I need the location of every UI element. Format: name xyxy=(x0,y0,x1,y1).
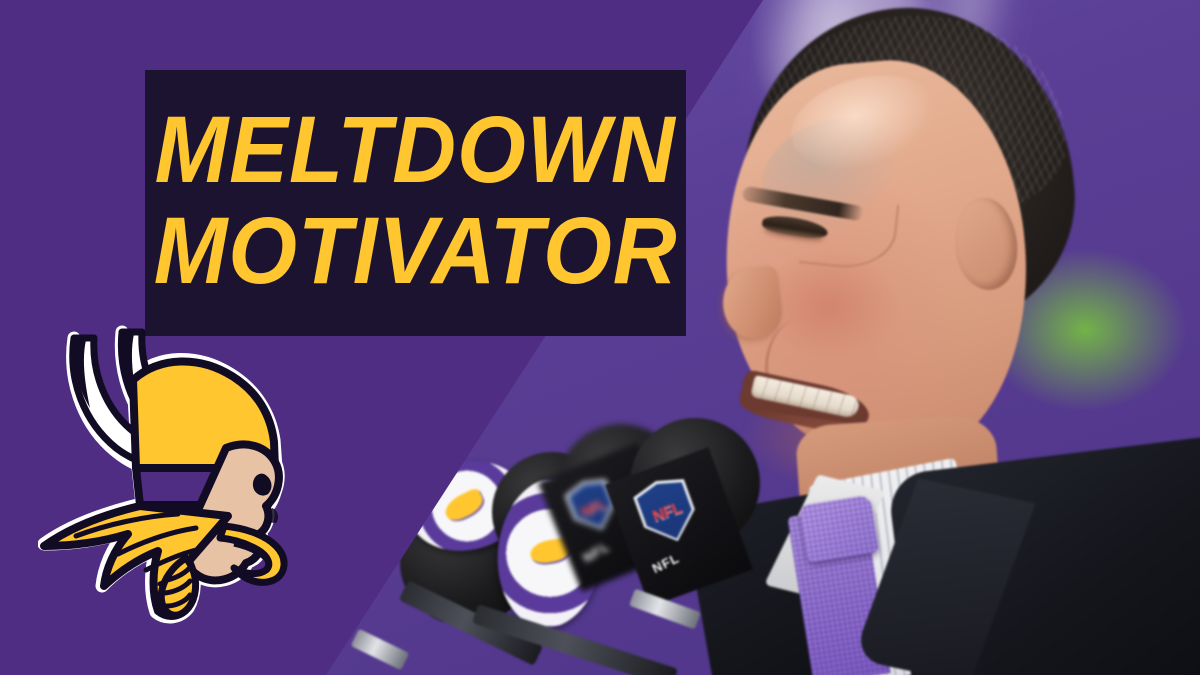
vikings-logo xyxy=(38,318,318,638)
thumbnail-canvas: NFL NFL NFL NFL MELTDOWN MOTIVATOR xyxy=(0,0,1200,675)
title-line-1: MELTDOWN xyxy=(155,105,676,196)
title-box: MELTDOWN MOTIVATOR xyxy=(145,70,686,336)
vikings-norseman-svg xyxy=(38,318,318,638)
title-line-2: MOTIVATOR xyxy=(154,206,678,297)
